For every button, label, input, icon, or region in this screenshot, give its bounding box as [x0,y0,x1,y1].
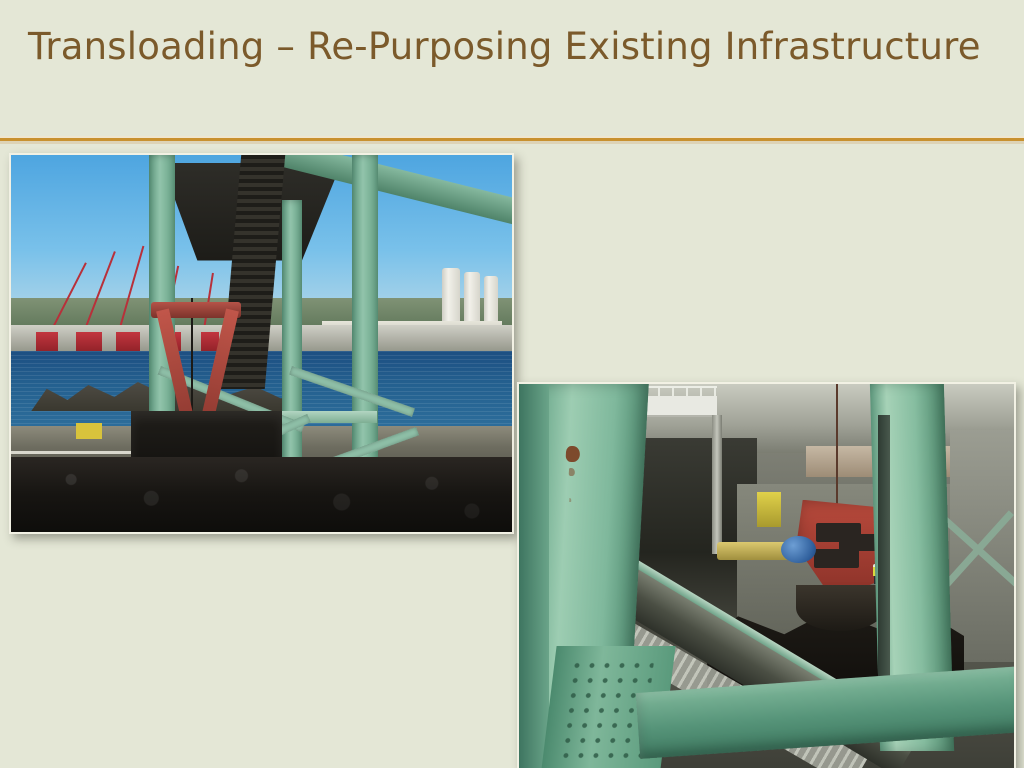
cement-silo [484,276,498,326]
dredged-sediment-pile [11,457,512,532]
yellow-equipment [757,492,782,527]
cement-silo [442,268,460,324]
presentation-slide: Transloading – Re-Purposing Existing Inf… [0,0,1024,768]
left-green-beam [519,384,549,768]
cement-silo [464,272,480,325]
vertical-mast [712,415,722,554]
grab-jaw [796,585,885,631]
yellow-equipment [76,423,102,439]
slide-title: Transloading – Re-Purposing Existing Inf… [28,22,998,72]
dock-railing [11,451,151,454]
gantry-leg [352,155,378,487]
photo-left[interactable] [9,153,514,534]
hoist-cable [836,384,838,508]
title-divider [0,136,1024,145]
divider-shadow [0,141,1024,144]
grab-slot [816,523,861,542]
photo-left-content [11,155,512,532]
photo-right-content [519,384,1014,768]
photo-right[interactable] [517,382,1016,768]
gantry-leg [282,200,302,487]
